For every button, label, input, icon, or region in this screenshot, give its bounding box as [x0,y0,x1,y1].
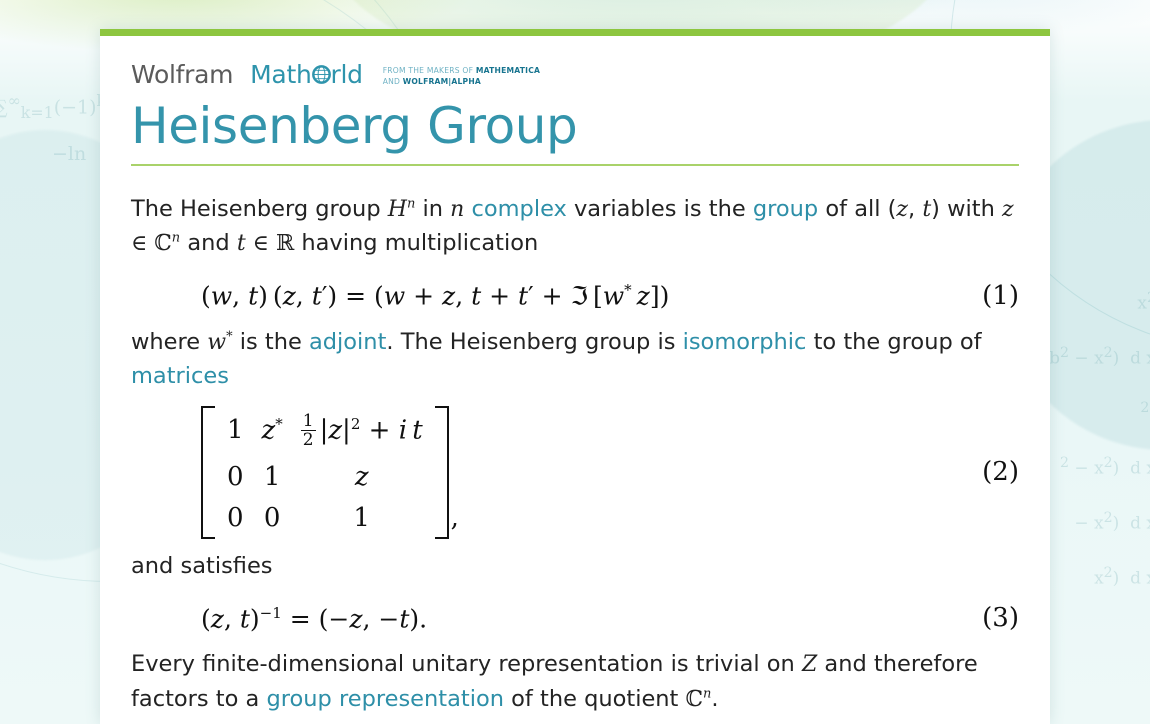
paragraph-adjoint: where w* is the adjoint. The Heisenberg … [131,325,1019,394]
matrix-bracket-right [435,406,449,540]
link-complex[interactable]: complex [471,196,566,222]
site-tagline: FROM THE MAKERS OF MATHEMATICA AND WOLFR… [383,66,540,88]
p1-text-3: variables is the [567,196,753,222]
paragraph-definition: The Heisenberg group Hn in n complex var… [131,192,1019,261]
p2-text-3: . The Heisenberg group is [386,329,682,355]
tagline-mathematica: MATHEMATICA [476,66,540,75]
matrix-cell-3-2: 0 [253,498,292,539]
matrix-cell-2-3: z [292,457,432,498]
symbol-t-1: t [922,197,931,222]
site-masthead[interactable]: Wolfram Math rld FROM THE MAKERS OF MATH… [131,36,1019,89]
symbol-w-star: w* [207,330,232,355]
link-group[interactable]: group [753,196,818,222]
symbol-n: n [450,197,464,222]
symbol-t-2: t [237,231,246,256]
matrix-cell-3-3: 1 [292,498,432,539]
matrix-row-2: 0 1 z [218,457,432,498]
equation-1-body: (w, t) (z, t′) = (w + z, t + t′ + ℑ [w* … [131,281,669,310]
paragraph-satisfies: and satisfies [131,549,1019,583]
p1-text-2: in [415,196,450,222]
matrix-cell-1-3: 12|z|2 + i t [292,406,432,457]
symbol-H: Hn [388,197,416,222]
p4-text-1: Every finite-dimensional unitary represe… [131,651,802,677]
matrix-bracket-left [201,406,215,540]
equation-2-row: 1 z* 12|z|2 + i t 0 1 z 0 0 1 [131,406,1019,540]
p1-text-6: ) with [931,196,1002,222]
symbol-Z-center: Z [802,652,817,677]
equation-2-matrix: 1 z* 12|z|2 + i t 0 1 z 0 0 1 [131,406,459,540]
symbol-z-1: z [896,197,908,222]
matrix-cell-1-2: z* [253,406,292,457]
link-group-representation[interactable]: group representation [266,686,504,712]
logo-world-part: rld [331,60,363,89]
globe-icon [312,61,331,80]
equation-3-number: (3) [982,603,1019,633]
equation-2-number: (2) [982,457,1019,487]
tagline-line2-plain: AND [383,77,403,86]
tagline-line1-plain: FROM THE MAKERS OF [383,66,476,75]
matrix-trailing-comma: , [449,503,459,539]
tagline-wolframalpha: WOLFRAM|ALPHA [403,77,481,86]
symbol-complex-field: ℂn [154,231,180,256]
p1-in-2: ∈ [246,231,276,256]
p1-in-1: ∈ [131,231,154,256]
link-matrices[interactable]: matrices [131,363,229,389]
p1-text-10: having multiplication [294,230,538,256]
p1-text-1: The Heisenberg group [131,196,388,222]
symbol-real-field: ℝ [276,231,294,256]
equation-3-body: (z, t)−1 = (−z, −t). [131,604,427,633]
equation-3-row: (z, t)−1 = (−z, −t). (3) [131,603,1019,633]
symbol-z-2: z [1002,197,1014,222]
matrix-cell-2-1: 0 [218,457,253,498]
page-title: Heisenberg Group [131,98,1019,154]
p4-text-4: . [711,686,718,712]
one-half-fraction: 12 [301,412,316,449]
matrix-cell-3-1: 0 [218,498,253,539]
matrix-cell-2-2: 1 [253,457,292,498]
p1-text-5: , [908,196,922,222]
card-top-accent-bar [100,29,1050,36]
matrix-row-1: 1 z* 12|z|2 + i t [218,406,432,457]
p4-text-3: of the quotient [504,686,686,712]
matrix-cell-1-1: 1 [218,406,253,457]
p1-text-4: of all ( [818,196,896,222]
equation-1-number: (1) [982,281,1019,311]
logo-mathworld-text[interactable]: Math rld [250,60,363,89]
content-card: Wolfram Math rld FROM THE MAKERS OF MATH… [100,29,1050,724]
title-divider [131,164,1019,166]
link-isomorphic[interactable]: isomorphic [683,329,807,355]
paragraph-representation: Every finite-dimensional unitary represe… [131,647,1019,716]
link-adjoint[interactable]: adjoint [309,329,386,355]
p2-text-1: where [131,329,207,355]
p1-text-8: and [180,230,237,256]
background-formula-right: x2 (b2 − x2) d x 2) 2 − x2) d x − x2) d … [1042,276,1150,606]
equation-1-row: (w, t) (z, t′) = (w + z, t + t′ + ℑ [w* … [131,281,1019,311]
matrix-row-3: 0 0 1 [218,498,432,539]
logo-math-part: Math [250,60,311,89]
matrix-table: 1 z* 12|z|2 + i t 0 1 z 0 0 1 [218,406,432,540]
symbol-quotient-complex: ℂn [686,687,712,712]
p2-text-4: to the group of [806,329,981,355]
logo-wolfram-text[interactable]: Wolfram [131,60,233,89]
p2-text-2: is the [233,329,309,355]
